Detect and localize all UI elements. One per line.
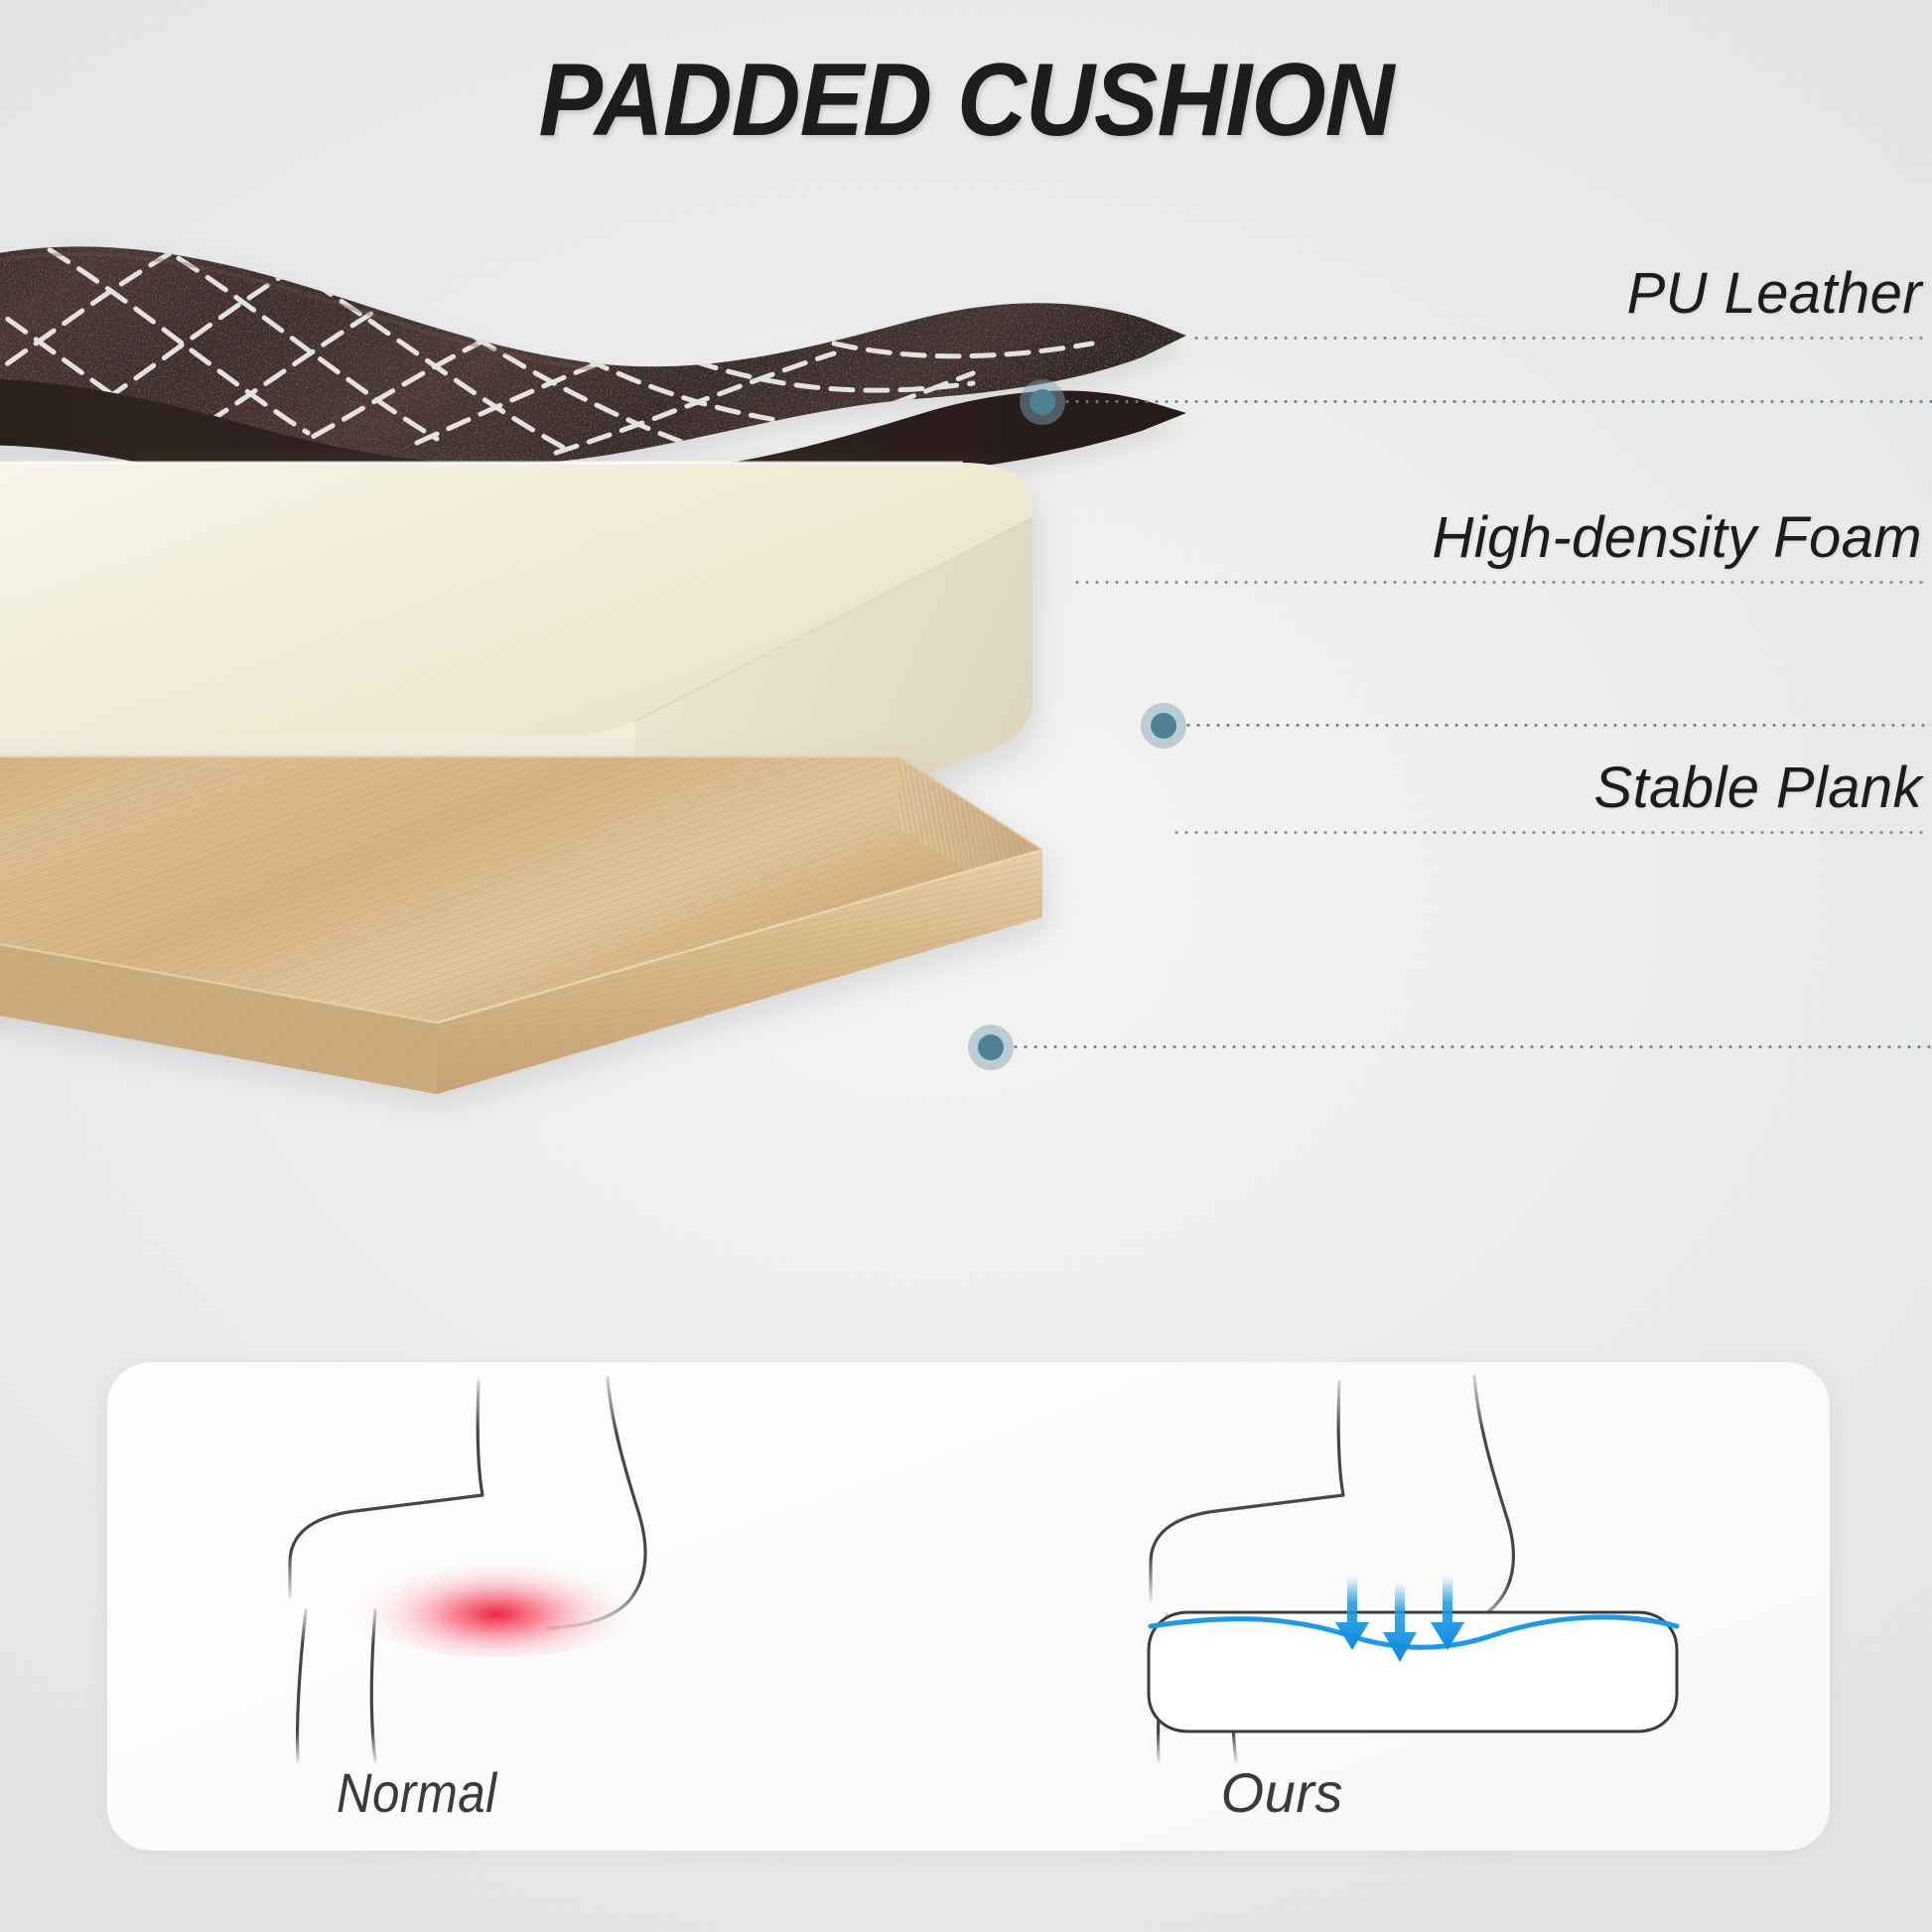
callout-label-high-density-foam: High-density Foam (1072, 504, 1928, 571)
comparison-item-normal: Normal (107, 1362, 969, 1851)
marker-core-icon (1151, 713, 1176, 739)
marker-dot-plank[interactable] (968, 1025, 1014, 1070)
comparison-item-ours: Ours (969, 1362, 1831, 1851)
callout-pu-leather: PU Leather (1191, 260, 1928, 340)
plank-layer (0, 757, 1042, 1094)
callout-stable-plank: Stable Plank (1172, 755, 1928, 834)
seating-pressure-comparison-panel: Normal (107, 1362, 1830, 1851)
normal-illustration (107, 1366, 969, 1763)
comparison-label-normal: Normal (38, 1760, 795, 1825)
comparison-label-ours: Ours (852, 1760, 1714, 1825)
page-title: PADDED CUSHION (68, 42, 1864, 160)
leader-line-pu-leather (1062, 400, 1932, 403)
callout-label-stable-plank: Stable Plank (1172, 755, 1928, 821)
marker-dot-foam[interactable] (1141, 703, 1186, 749)
ours-illustration (969, 1366, 1831, 1763)
marker-dot-pu-leather[interactable] (1020, 379, 1065, 425)
callout-underline (1172, 831, 1928, 834)
marker-core-icon (1030, 389, 1055, 415)
callout-label-pu-leather: PU Leather (1191, 260, 1928, 327)
callout-underline (1191, 337, 1928, 340)
callout-high-density-foam: High-density Foam (1072, 504, 1928, 584)
marker-core-icon (978, 1035, 1004, 1060)
exploded-layer-diagram (0, 149, 1390, 1142)
leader-line-foam (1183, 724, 1932, 727)
infographic-stage: PADDED CUSHION (0, 0, 1932, 1932)
callout-underline (1072, 581, 1928, 584)
leader-line-plank (1011, 1045, 1932, 1048)
